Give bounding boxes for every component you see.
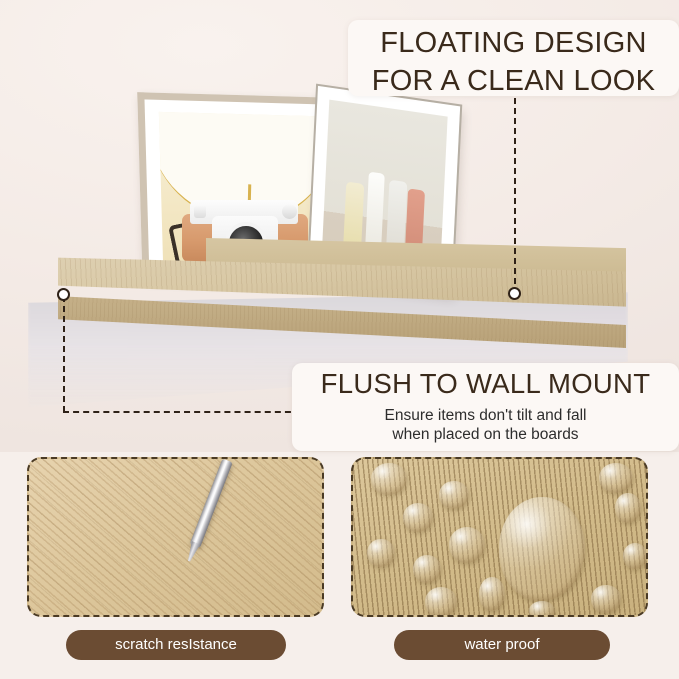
headline-floating-design-line1: FLOATING DESIGN <box>348 20 679 58</box>
water-droplet <box>623 543 647 569</box>
subtext-flush-line2: when placed on the boards <box>292 425 679 444</box>
water-droplet <box>591 585 621 613</box>
camera-dial <box>282 204 297 219</box>
water-droplet <box>599 463 633 493</box>
floating-shelf <box>58 252 626 348</box>
water-droplet <box>479 577 505 611</box>
water-droplet <box>615 493 641 523</box>
callout-card-floating-design: FLOATING DESIGN FOR A CLEAN LOOK <box>348 20 679 96</box>
callout-line-flush-vertical <box>63 296 65 412</box>
subtext-flush-line1: Ensure items don't tilt and fall <box>292 399 679 425</box>
callout-line-flush-horizontal <box>63 411 301 413</box>
water-droplet <box>425 587 457 617</box>
callout-marker-flush-to-wall <box>57 288 70 301</box>
water-droplet <box>449 527 485 563</box>
callout-card-flush-to-wall: FLUSH TO WALL MOUNT Ensure items don't t… <box>292 363 679 451</box>
callout-marker-floating-design <box>508 287 521 300</box>
product-infographic: FLOATING DESIGN FOR A CLEAN LOOK FLUSH T… <box>0 0 679 679</box>
headline-flush-to-wall: FLUSH TO WALL MOUNT <box>292 363 679 399</box>
water-droplet <box>413 555 441 583</box>
feature-panel-scratch <box>27 457 324 617</box>
screwdriver-shaft <box>190 458 233 548</box>
water-droplet <box>499 497 585 601</box>
water-droplet <box>439 481 469 509</box>
camera-shutter-button <box>194 205 206 218</box>
screwdriver-tip <box>185 541 201 563</box>
water-droplet <box>403 503 433 532</box>
water-droplet <box>367 539 395 567</box>
water-droplet <box>371 463 407 495</box>
feature-panel-water <box>351 457 648 617</box>
screwdriver-icon <box>180 457 236 568</box>
headline-floating-design-line2: FOR A CLEAN LOOK <box>348 58 679 96</box>
badge-water-proof: water proof <box>394 630 610 660</box>
water-droplet <box>529 601 555 617</box>
badge-scratch-resistance: scratch resIstance <box>66 630 286 660</box>
